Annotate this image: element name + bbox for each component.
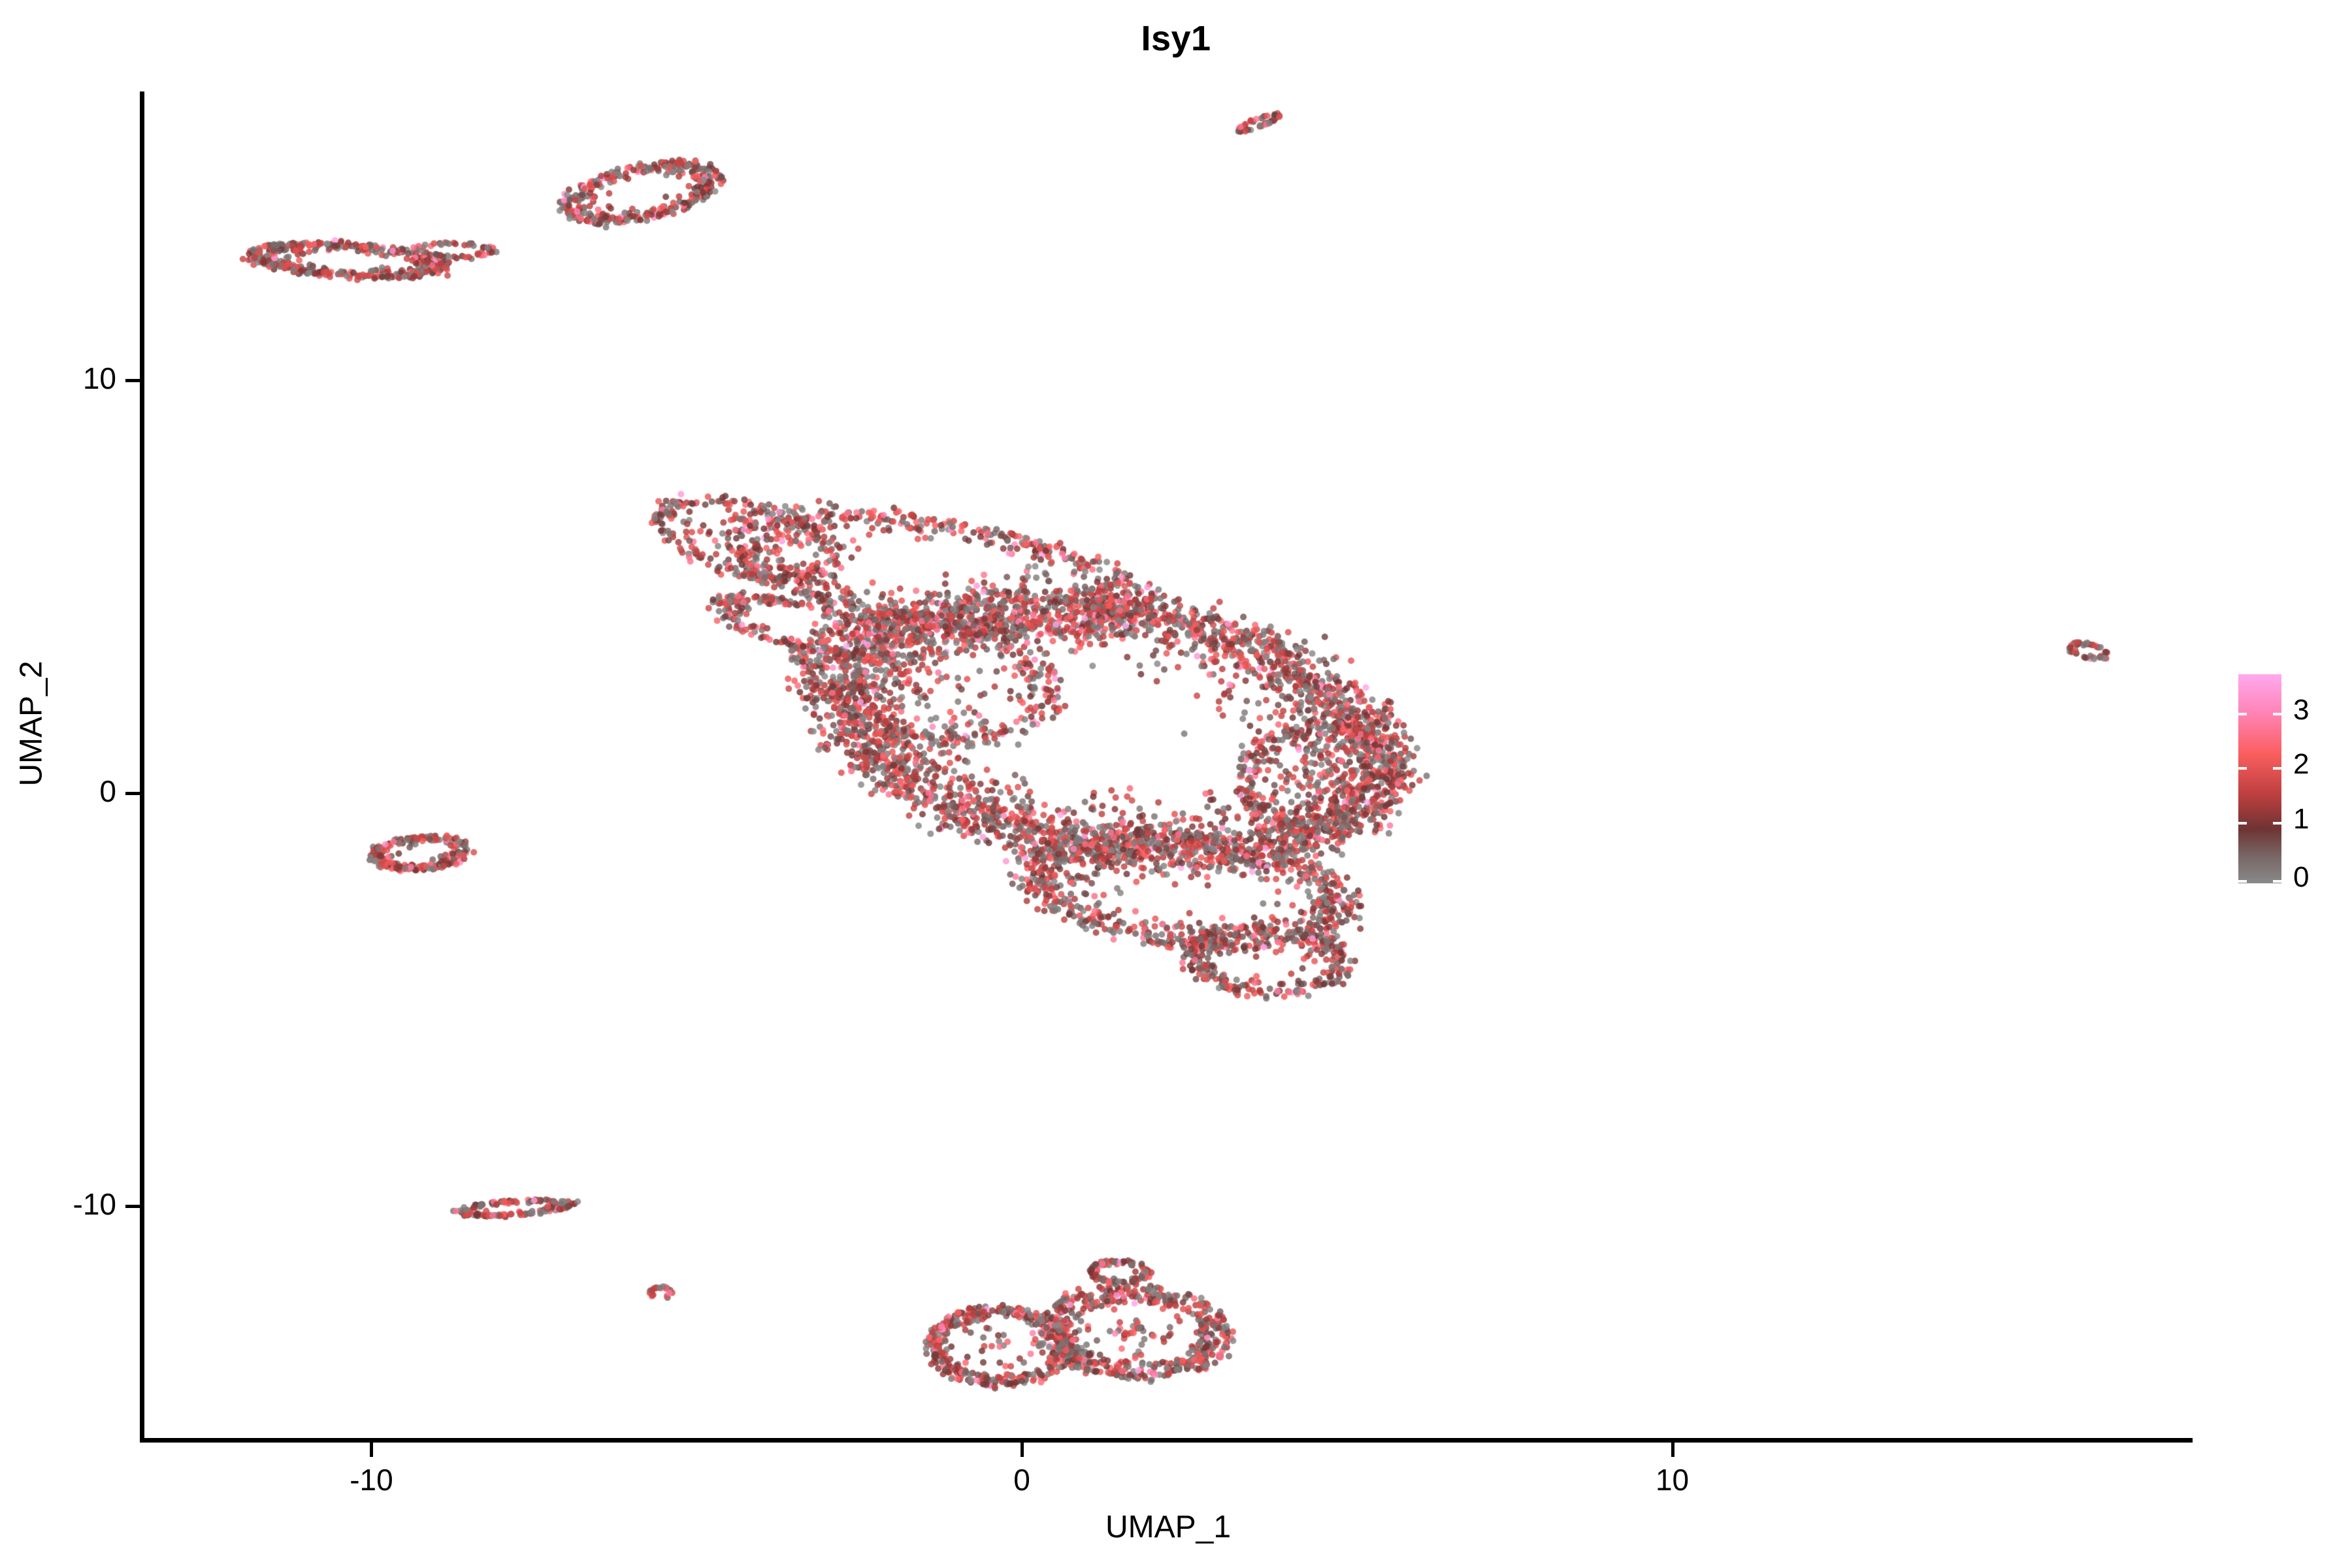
colorbar-label: 3	[2293, 696, 2309, 725]
x-tick-mark	[1021, 1443, 1024, 1457]
y-tick-label: -10	[0, 1186, 116, 1222]
colorbar-label: 1	[2293, 805, 2309, 834]
colorbar-tick-mark	[2273, 880, 2281, 883]
colorbar-tick-mark	[2273, 767, 2281, 770]
colorbar-label: 2	[2293, 750, 2309, 779]
plot-panel	[144, 91, 2193, 1441]
y-tick-mark	[125, 379, 140, 382]
colorbar-tick-mark	[2238, 822, 2247, 825]
y-tick-mark	[125, 1205, 140, 1208]
x-tick-label: 10	[1594, 1462, 1751, 1497]
x-tick-label: 0	[943, 1462, 1100, 1497]
x-tick-label: -10	[293, 1462, 449, 1497]
x-axis-title: UMAP_1	[144, 1509, 2193, 1545]
colorbar-label: 0	[2293, 863, 2309, 892]
scatter-plot-canvas	[144, 91, 2193, 1441]
x-axis-line	[140, 1438, 2193, 1443]
colorbar-tick-mark	[2273, 822, 2281, 825]
y-axis-title: UMAP_2	[14, 430, 50, 1018]
umap-feature-plot: Isy1 -10010 -10010 UMAP_1 UMAP_2 3210	[0, 0, 2352, 1568]
x-tick-mark	[1671, 1443, 1674, 1457]
colorbar-tick-mark	[2238, 767, 2247, 770]
y-axis-line	[140, 91, 144, 1443]
y-tick-label: 10	[0, 361, 116, 396]
page-title: Isy1	[0, 18, 2352, 59]
colorbar-tick-mark	[2238, 880, 2247, 883]
y-tick-mark	[125, 792, 140, 795]
x-tick-mark	[370, 1443, 373, 1457]
colorbar-gradient	[2238, 674, 2281, 883]
colorbar-tick-mark	[2238, 713, 2247, 715]
colorbar-tick-mark	[2273, 713, 2281, 715]
color-legend: 3210	[2238, 666, 2343, 892]
